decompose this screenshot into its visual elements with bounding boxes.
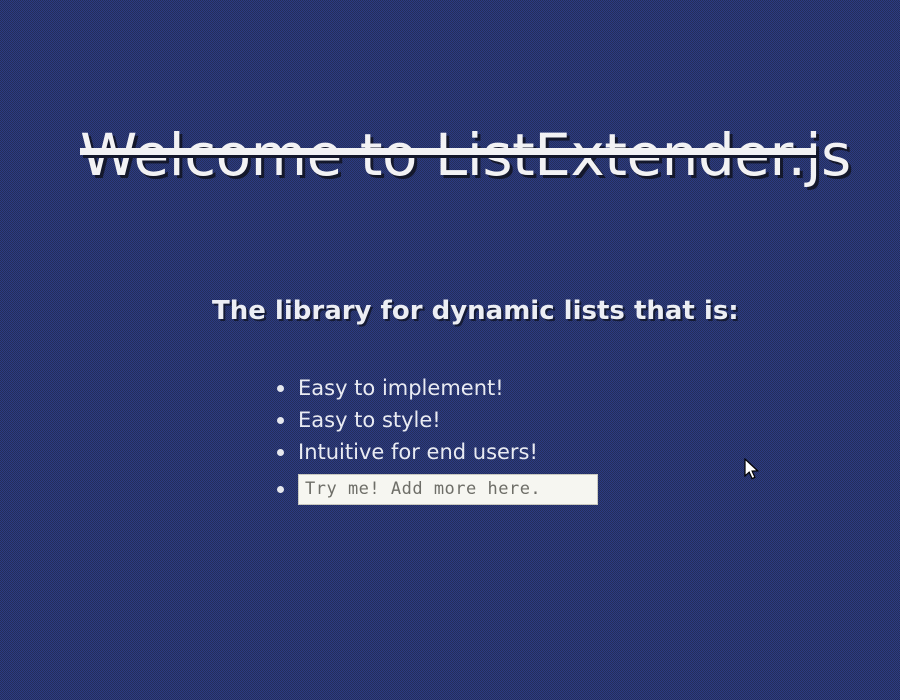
feature-list: Easy to implement! Easy to style! Intuit… <box>268 372 598 508</box>
list-item: Easy to implement! <box>268 372 598 404</box>
list-item-new-entry <box>268 470 598 508</box>
list-item-label: Easy to style! <box>298 410 441 431</box>
list-item-label: Intuitive for end users! <box>298 442 538 463</box>
bullet-icon <box>277 385 284 392</box>
page-root: Welcome to ListExtender.js The library f… <box>0 0 900 700</box>
page-subtitle: The library for dynamic lists that is: <box>212 296 739 326</box>
page-title-underline <box>80 148 816 155</box>
list-item-label: Easy to implement! <box>298 378 504 399</box>
mouse-cursor-icon <box>744 458 760 482</box>
bullet-icon <box>277 486 284 493</box>
page-title: Welcome to ListExtender.js <box>80 125 820 186</box>
list-item: Intuitive for end users! <box>268 436 598 468</box>
list-item: Easy to style! <box>268 404 598 436</box>
bullet-icon <box>277 417 284 424</box>
bullet-icon <box>277 449 284 456</box>
new-list-item-input[interactable] <box>298 474 598 505</box>
